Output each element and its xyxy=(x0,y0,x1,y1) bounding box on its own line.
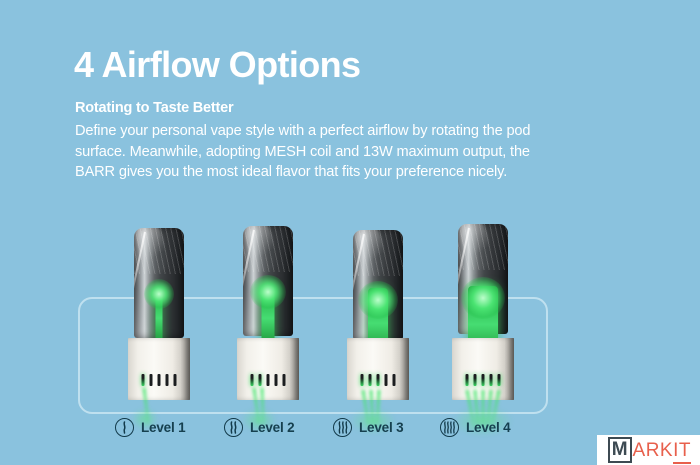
body-paragraph: Define your personal vape style with a p… xyxy=(75,121,653,183)
pod-level-3 xyxy=(347,230,409,400)
body-shadow xyxy=(505,338,514,400)
pod-body xyxy=(237,338,299,400)
airflow-level-2-icon xyxy=(224,418,243,437)
airflow-slot xyxy=(490,374,493,386)
cap-reflection-streaks xyxy=(458,224,508,270)
airflow-slot xyxy=(482,374,485,386)
airflow-slot xyxy=(251,374,254,386)
page-subtitle: Rotating to Taste Better xyxy=(75,100,233,116)
airflow-slot xyxy=(369,374,372,386)
legend-label: Level 1 xyxy=(141,420,185,435)
coil-glow-core xyxy=(461,277,505,319)
airflow-slot xyxy=(267,374,270,386)
airflow-slot xyxy=(158,374,161,386)
watermark-text: ARKIT xyxy=(632,441,691,460)
airflow-level-3-icon xyxy=(333,418,352,437)
body-shadow xyxy=(290,338,299,400)
body-line-1: Define your personal vape style with a p… xyxy=(75,121,653,142)
airflow-level-4-icon xyxy=(440,418,459,437)
watermark-text-plain: ARK xyxy=(633,440,674,461)
pod-level-2 xyxy=(237,226,299,400)
body-shadow xyxy=(181,338,190,400)
legend-label: Level 3 xyxy=(359,420,403,435)
legend-label: Level 4 xyxy=(466,420,510,435)
pod-body xyxy=(128,338,190,400)
airflow-slot xyxy=(466,374,469,386)
watermark-text-underlined: IT xyxy=(673,440,691,464)
cap-reflection-streaks xyxy=(353,230,403,276)
slide-canvas: 4 Airflow Options Rotating to Taste Bett… xyxy=(0,0,700,465)
airflow-slot xyxy=(259,374,262,386)
airflow-slot xyxy=(474,374,477,386)
legend-item-level-1[interactable]: Level 1 xyxy=(115,418,185,437)
airflow-slot xyxy=(150,374,153,386)
airflow-slot xyxy=(166,374,169,386)
body-line-2: surface. Meanwhile, adopting MESH coil a… xyxy=(75,142,653,163)
airflow-level-1-icon xyxy=(115,418,134,437)
airflow-slot xyxy=(283,374,286,386)
cap-reflection-streaks xyxy=(134,228,184,274)
pod-level-1 xyxy=(128,228,190,400)
body-shadow xyxy=(400,338,409,400)
coil-glow-core xyxy=(250,275,286,309)
coil-glow-core xyxy=(358,281,398,319)
page-title: 4 Airflow Options xyxy=(74,46,360,84)
legend-item-level-2[interactable]: Level 2 xyxy=(224,418,294,437)
legend-item-level-4[interactable]: Level 4 xyxy=(440,418,510,437)
airflow-slot-row xyxy=(466,374,501,386)
airflow-slot xyxy=(393,374,396,386)
cap-reflection-streaks xyxy=(243,226,293,272)
airflow-slot xyxy=(142,374,145,386)
airflow-slot xyxy=(361,374,364,386)
airflow-slot-row xyxy=(361,374,396,386)
airflow-slot xyxy=(377,374,380,386)
airflow-slot xyxy=(385,374,388,386)
legend-item-level-3[interactable]: Level 3 xyxy=(333,418,403,437)
airflow-slot xyxy=(275,374,278,386)
legend-label: Level 2 xyxy=(250,420,294,435)
airflow-slot-row xyxy=(251,374,286,386)
watermark-logo: M ARKIT xyxy=(597,435,700,465)
airflow-slot xyxy=(498,374,501,386)
pod-level-4 xyxy=(452,224,514,400)
watermark-boxed-letter: M xyxy=(608,437,632,463)
coil-glow-core xyxy=(144,279,174,309)
airflow-slot xyxy=(174,374,177,386)
airflow-slot-row xyxy=(142,374,177,386)
body-line-3: BARR gives you the most ideal flavor tha… xyxy=(75,162,653,183)
